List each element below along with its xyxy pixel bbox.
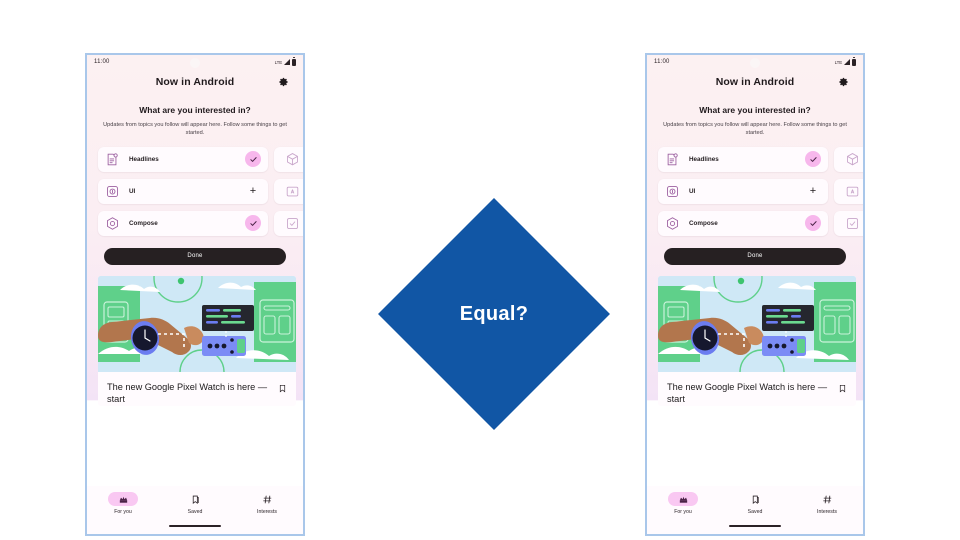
home-indicator: [729, 525, 781, 527]
article-card[interactable]: The new Google Pixel Watch is here — sta…: [98, 276, 296, 406]
gear-icon[interactable]: [838, 77, 849, 88]
bookmark-icon[interactable]: [838, 383, 847, 394]
status-bar: 11:00 LTE: [87, 55, 303, 69]
saved-bookmark-icon: [750, 494, 761, 505]
topic-info: Compose: [105, 216, 158, 231]
interests-title: What are you interested in?: [99, 105, 291, 115]
topic-follow-toggle-ui[interactable]: +: [245, 183, 261, 199]
article-title: The new Google Pixel Watch is here — sta…: [667, 381, 832, 406]
article-body: The new Google Pixel Watch is here — sta…: [658, 372, 856, 406]
compose-hexagon-icon: [665, 216, 680, 231]
topic-label: Compose: [129, 220, 158, 227]
nav-pill: [740, 492, 770, 506]
topic-card-compose[interactable]: Compose: [98, 211, 268, 236]
nav-label: Interests: [257, 509, 277, 515]
topic-follow-toggle-compose[interactable]: [245, 215, 261, 231]
phone-mockup-left: 11:00 LTE Now in Android What are you in…: [85, 53, 305, 536]
battery-icon: [292, 59, 296, 66]
app-bar: Now in Android: [647, 69, 863, 95]
interests-title: What are you interested in?: [659, 105, 851, 115]
comparison-label: Equal?: [378, 198, 610, 430]
done-button-wrap: Done: [647, 236, 863, 265]
topic-row: Headlines: [658, 147, 863, 172]
phone-screen: 11:00 LTE Now in Android What are you in…: [87, 55, 303, 534]
checkbox-icon: [845, 216, 860, 231]
nav-item-interests[interactable]: Interests: [799, 492, 855, 515]
status-indicators: LTE: [835, 59, 856, 66]
interests-header: What are you interested in? Updates from…: [647, 95, 863, 138]
topic-card-peek-2[interactable]: [834, 179, 865, 204]
topic-card-compose[interactable]: Compose: [658, 211, 828, 236]
status-indicators: LTE: [275, 59, 296, 66]
topic-label: UI: [129, 188, 135, 195]
check-icon: [809, 219, 818, 228]
topics-grid: Headlines: [87, 147, 303, 236]
bottom-nav-items: For you Saved: [647, 486, 863, 515]
home-indicator: [169, 525, 221, 527]
accessibility-frame-icon: [845, 184, 860, 199]
battery-icon: [852, 59, 856, 66]
ui-square-icon: [105, 184, 120, 199]
topic-row: UI +: [98, 179, 303, 204]
comparison-diamond: Equal?: [378, 198, 610, 430]
article-card[interactable]: The new Google Pixel Watch is here — sta…: [658, 276, 856, 406]
bottom-navigation: For you Saved: [87, 486, 303, 534]
nav-pill: [812, 492, 842, 506]
topic-info: Headlines: [665, 152, 719, 167]
cube-3d-icon: [285, 152, 300, 167]
signal-bars-icon: [844, 59, 850, 65]
topic-row: UI +: [658, 179, 863, 204]
nav-label: Interests: [817, 509, 837, 515]
headlines-document-icon: [665, 152, 680, 167]
compose-hexagon-icon: [105, 216, 120, 231]
nav-pill-active: [108, 492, 138, 506]
check-icon: [249, 219, 258, 228]
saved-bookmark-icon: [190, 494, 201, 505]
topic-follow-toggle-headlines[interactable]: [805, 151, 821, 167]
topic-card-peek-3[interactable]: [834, 211, 865, 236]
nav-pill-active: [668, 492, 698, 506]
app-bar: Now in Android: [87, 69, 303, 95]
topic-card-headlines[interactable]: Headlines: [98, 147, 268, 172]
hash-interests-icon: [822, 494, 833, 505]
status-time: 11:00: [94, 59, 110, 65]
nav-label: Saved: [188, 509, 203, 515]
for-you-icon: [118, 494, 129, 505]
nav-item-saved[interactable]: Saved: [727, 492, 783, 515]
interests-header: What are you interested in? Updates from…: [87, 95, 303, 138]
illustration-wrist-watch-devices: [658, 276, 856, 372]
cube-3d-icon: [845, 152, 860, 167]
topic-row: Compose: [658, 211, 863, 236]
topic-info: UI: [665, 184, 695, 199]
illustration-wrist-watch-devices: [98, 276, 296, 372]
article-hero-image: [658, 276, 856, 372]
bookmark-icon[interactable]: [278, 383, 287, 394]
topic-label: Headlines: [689, 156, 719, 163]
topic-row: Compose: [98, 211, 303, 236]
topic-card-peek-1[interactable]: [834, 147, 865, 172]
headlines-document-icon: [105, 152, 120, 167]
article-hero-image: [98, 276, 296, 372]
topic-info: Headlines: [105, 152, 159, 167]
done-button[interactable]: Done: [104, 248, 286, 265]
nav-pill: [180, 492, 210, 506]
topic-label: Compose: [689, 220, 718, 227]
phone-screen: 11:00 LTE Now in Android What are you in…: [647, 55, 863, 534]
done-button-wrap: Done: [87, 236, 303, 265]
ui-square-icon: [665, 184, 680, 199]
topic-label: Headlines: [129, 156, 159, 163]
nav-item-interests[interactable]: Interests: [239, 492, 295, 515]
topic-card-peek-3[interactable]: [274, 211, 305, 236]
topic-row: Headlines: [98, 147, 303, 172]
topic-info: UI: [105, 184, 135, 199]
accessibility-frame-icon: [285, 184, 300, 199]
topics-grid: Headlines: [647, 147, 863, 236]
topic-label: UI: [689, 188, 695, 195]
status-time: 11:00: [654, 59, 670, 65]
article-title: The new Google Pixel Watch is here — sta…: [107, 381, 272, 406]
topic-follow-toggle-compose[interactable]: [805, 215, 821, 231]
hash-interests-icon: [262, 494, 273, 505]
status-bar: 11:00 LTE: [647, 55, 863, 69]
app-title: Now in Android: [716, 76, 795, 88]
phone-mockup-right: 11:00 LTE Now in Android What are you in…: [645, 53, 865, 536]
network-label: LTE: [275, 60, 282, 65]
check-icon: [249, 155, 258, 164]
bottom-nav-items: For you Saved: [87, 486, 303, 515]
app-title: Now in Android: [156, 76, 235, 88]
for-you-icon: [678, 494, 689, 505]
nav-item-for-you[interactable]: For you: [95, 492, 151, 515]
bottom-navigation: For you Saved: [647, 486, 863, 534]
topic-follow-toggle-headlines[interactable]: [245, 151, 261, 167]
gear-icon[interactable]: [278, 77, 289, 88]
topic-card-headlines[interactable]: Headlines: [658, 147, 828, 172]
nav-item-saved[interactable]: Saved: [167, 492, 223, 515]
checkbox-icon: [285, 216, 300, 231]
topic-card-peek-1[interactable]: [274, 147, 305, 172]
nav-label: Saved: [748, 509, 763, 515]
topic-follow-toggle-ui[interactable]: +: [805, 183, 821, 199]
article-body: The new Google Pixel Watch is here — sta…: [98, 372, 296, 406]
nav-label: For you: [114, 509, 132, 515]
topic-card-ui[interactable]: UI +: [658, 179, 828, 204]
camera-punch-hole: [750, 58, 760, 68]
interests-subtitle: Updates from topics you follow will appe…: [659, 121, 851, 138]
topic-card-ui[interactable]: UI +: [98, 179, 268, 204]
nav-label: For you: [674, 509, 692, 515]
nav-pill: [252, 492, 282, 506]
done-button[interactable]: Done: [664, 248, 846, 265]
topic-info: Compose: [665, 216, 718, 231]
check-icon: [809, 155, 818, 164]
network-label: LTE: [835, 60, 842, 65]
interests-subtitle: Updates from topics you follow will appe…: [99, 121, 291, 138]
camera-punch-hole: [190, 58, 200, 68]
signal-bars-icon: [284, 59, 290, 65]
nav-item-for-you[interactable]: For you: [655, 492, 711, 515]
topic-card-peek-2[interactable]: [274, 179, 305, 204]
